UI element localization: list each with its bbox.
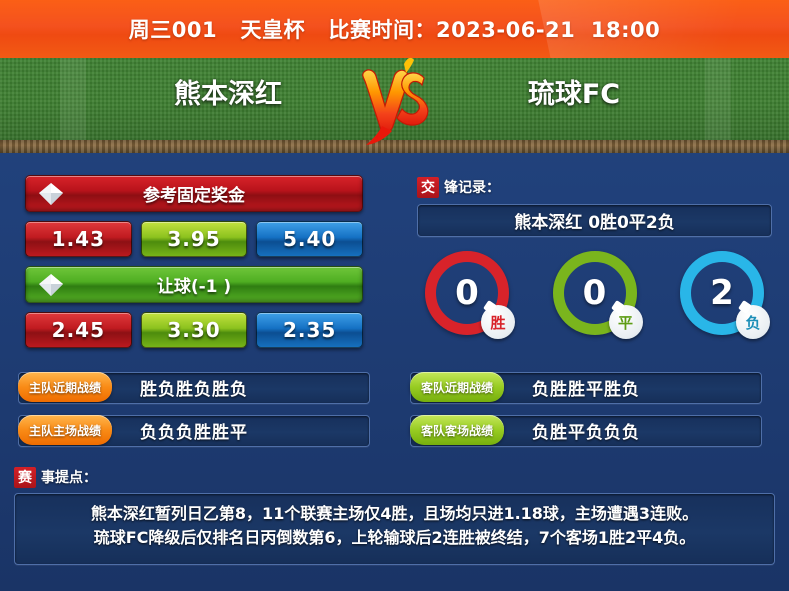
- field-stripe-right: [705, 58, 731, 140]
- fixed-odds-title: 参考固定奖金: [143, 181, 245, 206]
- analysis-tag-icon: 赛: [14, 467, 36, 488]
- away-recent-form-row: 负胜胜平胜负 客队近期战绩: [410, 372, 762, 402]
- fixed-odd-draw[interactable]: 3.95: [141, 221, 248, 257]
- vs-icon: [352, 56, 438, 148]
- fixed-odd-away[interactable]: 5.40: [256, 221, 363, 257]
- h2h-rings: 0 胜 0 平 2 负: [417, 251, 772, 335]
- analysis-tag-label: 事提点：: [41, 467, 97, 487]
- form-label-scope: 主场: [53, 422, 77, 439]
- h2h-tag: 交 锋记录：: [417, 176, 772, 198]
- fixed-odd-home[interactable]: 1.43: [25, 221, 132, 257]
- form-label-scope: 客场: [445, 422, 469, 439]
- away-recent-form-label: 客队近期战绩: [410, 372, 504, 402]
- form-label-tail: 战绩: [77, 379, 101, 396]
- form-label-team: 客队: [421, 422, 445, 439]
- form-label-scope: 近期: [53, 379, 77, 396]
- ring-value: 0: [583, 276, 607, 310]
- fixed-odds-title-bar: 参考固定奖金: [25, 175, 363, 212]
- home-home-form-row: 负负负胜胜平 主队主场战绩: [18, 415, 370, 445]
- h2h-tag-label: 锋记录：: [444, 177, 500, 197]
- head-to-head-panel: 交 锋记录： 熊本深红 0胜0平2负 0 胜 0 平 2 负: [417, 176, 772, 335]
- form-label-tail: 战绩: [469, 379, 493, 396]
- match-header-bar: 周三001 天皇杯 比赛时间：2023-06-21 18:00: [0, 0, 789, 58]
- h2h-ring-draw: 0 平: [553, 251, 637, 335]
- diamond-icon: [38, 181, 64, 207]
- h2h-ring-loss: 2 负: [680, 251, 764, 335]
- handicap-title-bar: 让球(-1 ): [25, 266, 363, 303]
- odds-panel: 参考固定奖金 1.43 3.95 5.40 让球(-1 ) 2.45 3.30 …: [25, 175, 363, 357]
- analysis-tag: 赛 事提点：: [14, 466, 775, 488]
- handicap-odd-home[interactable]: 2.45: [25, 312, 132, 348]
- home-recent-form-row: 胜负胜负胜负 主队近期战绩: [18, 372, 370, 402]
- home-recent-form-label: 主队近期战绩: [18, 372, 112, 402]
- ring-label-badge: 平: [609, 305, 643, 339]
- form-label-tail: 战绩: [469, 422, 493, 439]
- field-stripe-left: [60, 58, 86, 140]
- analysis-line: 熊本深红暂列日乙第8，11个联赛主场仅4胜，且场均只进1.18球，主场遭遇3连败…: [25, 502, 764, 526]
- analysis-line: 琉球FC降级后仅排名日丙倒数第6，上轮输球后2连胜被终结，7个客场1胜2平4负。: [25, 526, 764, 550]
- form-label-team: 主队: [29, 422, 53, 439]
- away-away-form-label: 客队客场战绩: [410, 415, 504, 445]
- diamond-icon: [38, 272, 64, 298]
- ring-value: 2: [710, 276, 734, 310]
- home-home-form-label: 主队主场战绩: [18, 415, 112, 445]
- match-preview-card: 周三001 天皇杯 比赛时间：2023-06-21 18:00 熊本深红 琉球F…: [0, 0, 789, 591]
- form-label-tail: 战绩: [77, 422, 101, 439]
- away-form-column: 负胜胜平胜负 客队近期战绩 负胜平负负负 客队客场战绩: [410, 372, 762, 458]
- handicap-odds-row: 2.45 3.30 2.35: [25, 312, 363, 348]
- ring-label-badge: 负: [736, 305, 770, 339]
- form-label-scope: 近期: [445, 379, 469, 396]
- match-header-text: 周三001 天皇杯 比赛时间：2023-06-21 18:00: [129, 14, 661, 44]
- form-label-team: 主队: [29, 379, 53, 396]
- analysis-body: 熊本深红暂列日乙第8，11个联赛主场仅4胜，且场均只进1.18球，主场遭遇3连败…: [14, 493, 775, 565]
- h2h-tag-icon: 交: [417, 177, 439, 198]
- ring-label-badge: 胜: [481, 305, 515, 339]
- away-away-form-row: 负胜平负负负 客队客场战绩: [410, 415, 762, 445]
- handicap-title: 让球(-1 ): [157, 272, 231, 297]
- h2h-ring-win: 0 胜: [425, 251, 509, 335]
- away-team-name: 琉球FC: [464, 72, 684, 111]
- home-team-name: 熊本深红: [118, 72, 338, 111]
- ring-value: 0: [455, 276, 479, 310]
- fixed-odds-row: 1.43 3.95 5.40: [25, 221, 363, 257]
- handicap-odd-away[interactable]: 2.35: [256, 312, 363, 348]
- analysis-panel: 赛 事提点： 熊本深红暂列日乙第8，11个联赛主场仅4胜，且场均只进1.18球，…: [14, 466, 775, 565]
- h2h-summary: 熊本深红 0胜0平2负: [417, 204, 772, 237]
- form-label-team: 客队: [421, 379, 445, 396]
- handicap-odd-draw[interactable]: 3.30: [141, 312, 248, 348]
- home-form-column: 胜负胜负胜负 主队近期战绩 负负负胜胜平 主队主场战绩: [18, 372, 370, 458]
